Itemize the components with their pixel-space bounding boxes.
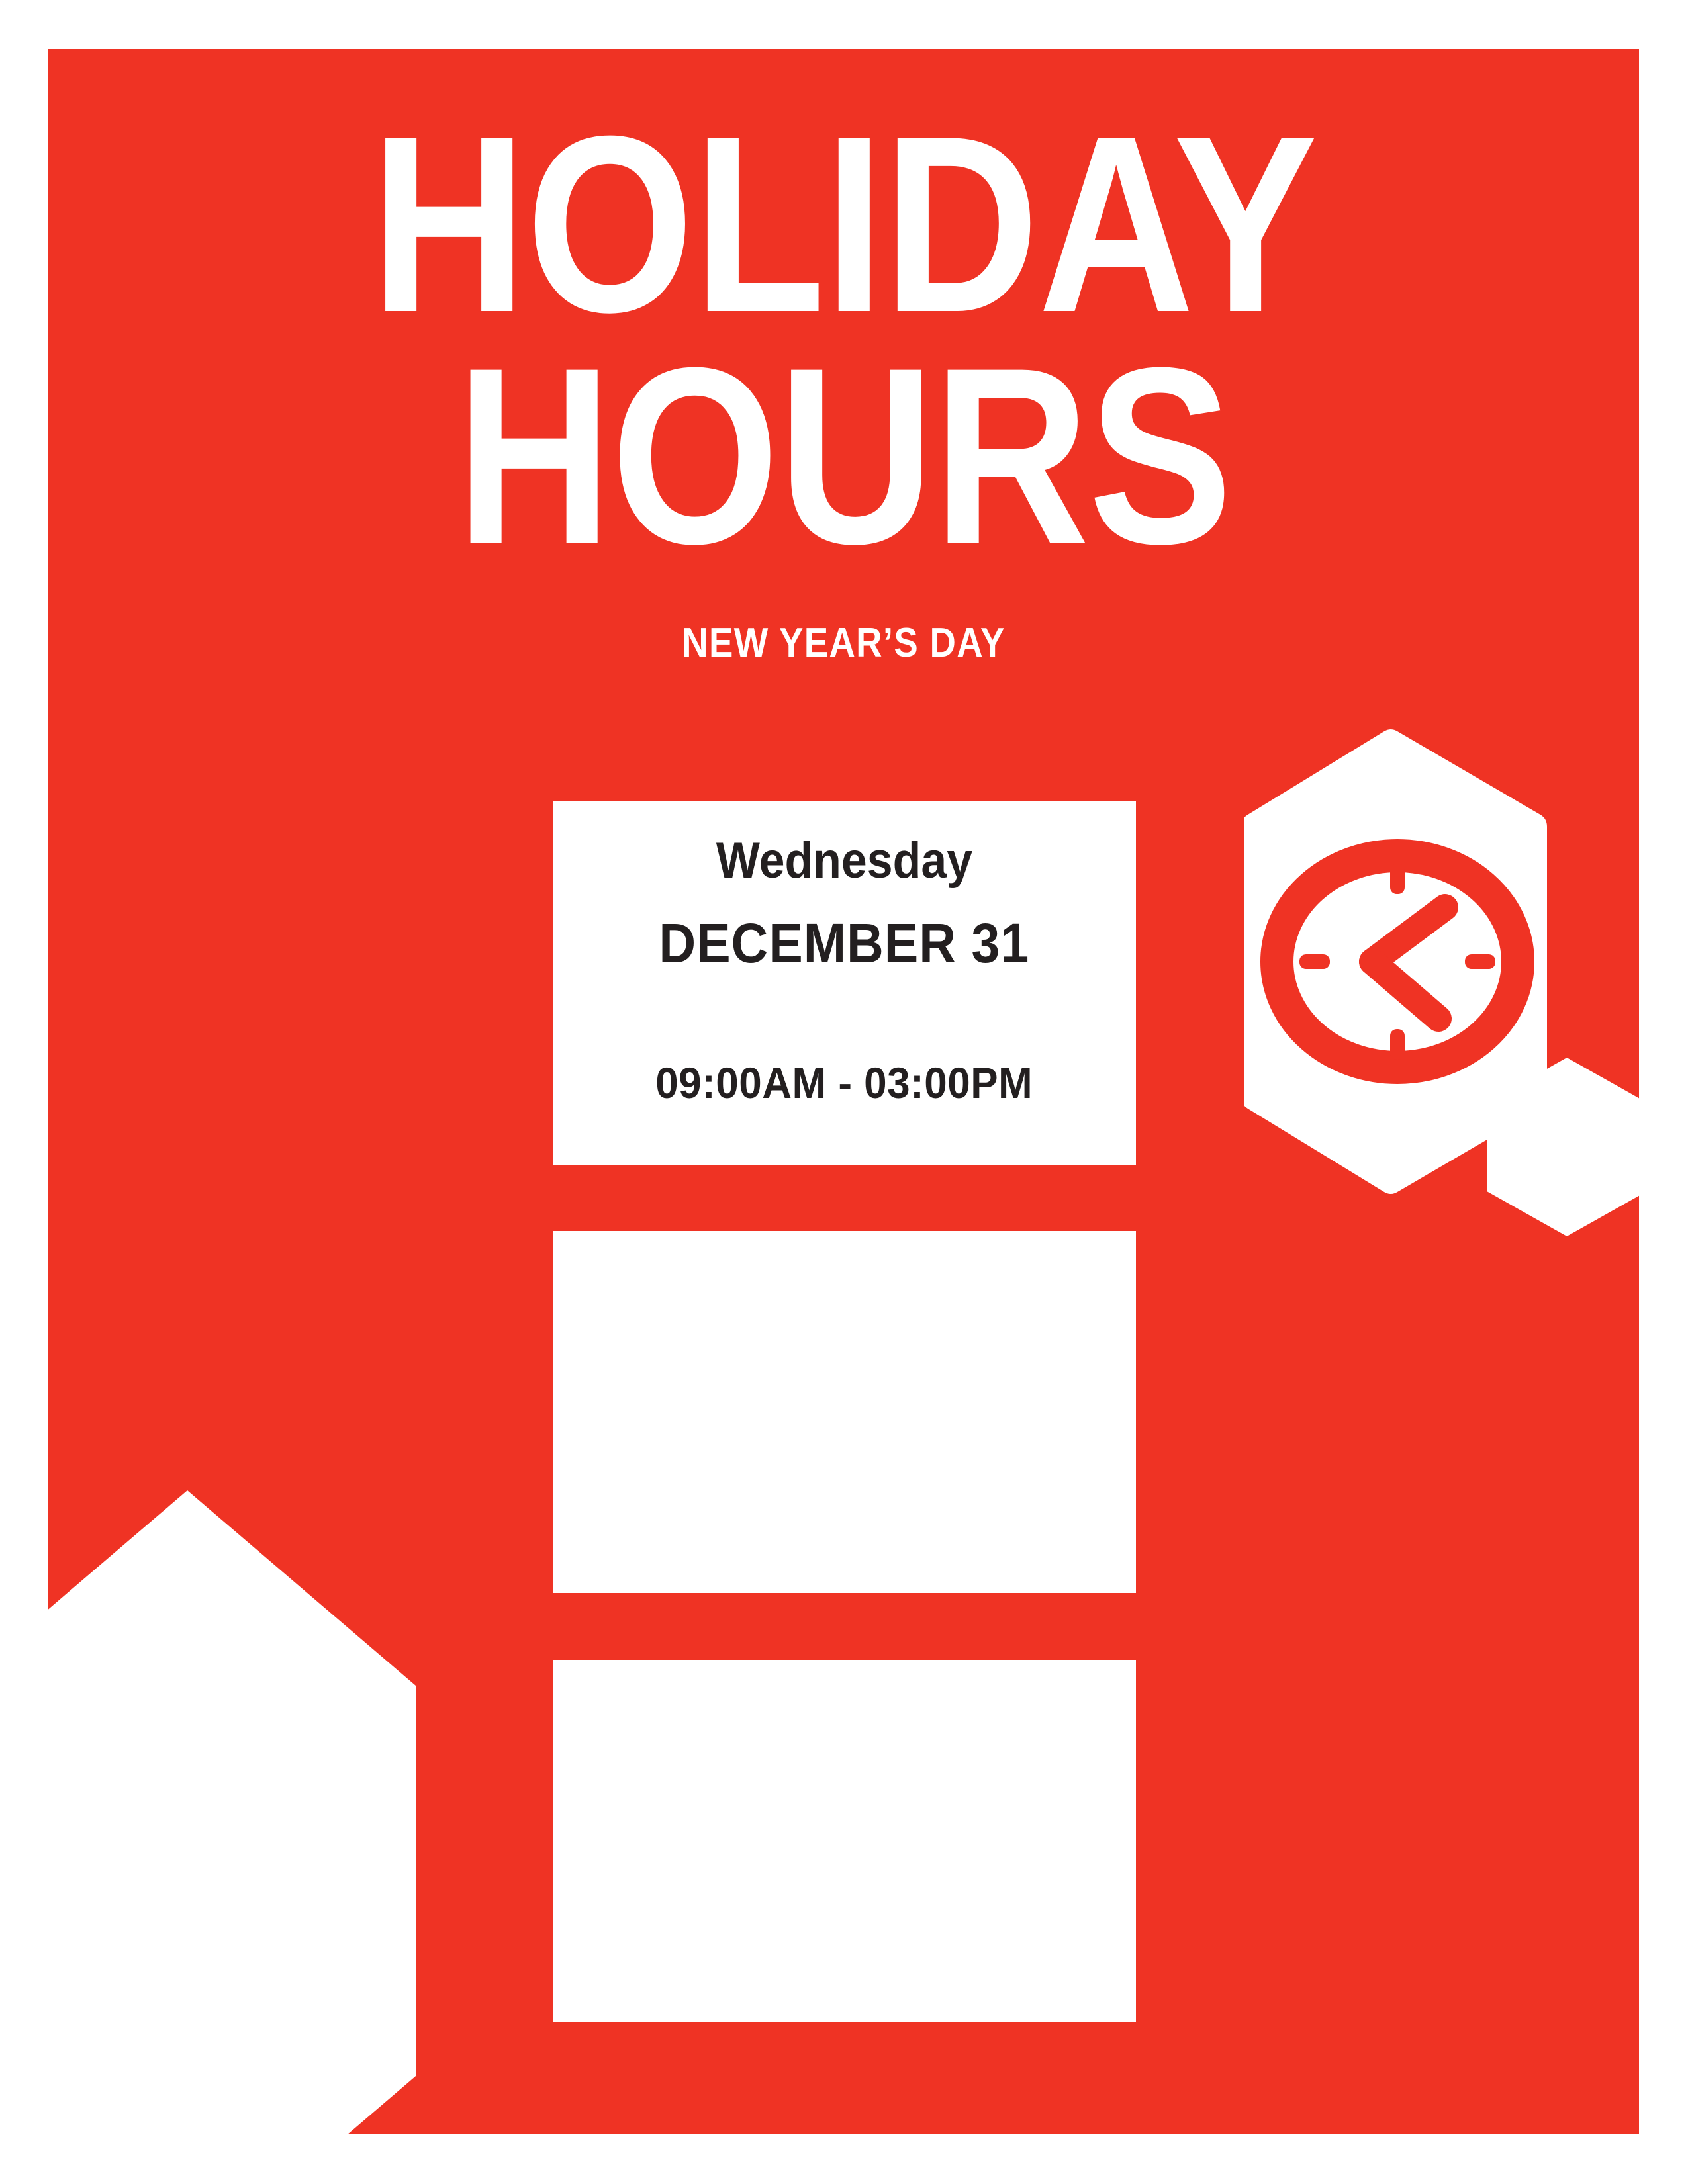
hours-card-date: DECEMBER 31 <box>659 915 1030 971</box>
clock-icon <box>1244 725 1550 1199</box>
hours-card <box>553 1660 1136 2022</box>
clock-tick-12 <box>1390 864 1405 894</box>
clock-tick-9 <box>1299 954 1330 969</box>
poster-canvas: HOLIDAY HOURS NEW YEAR’S DAY Wednesday D… <box>48 49 1639 2134</box>
title-line-2: HOURS <box>160 340 1528 572</box>
hours-card: Wednesday DECEMBER 31 09:00AM - 03:00PM <box>553 801 1136 1165</box>
hours-card-time: 09:00AM - 03:00PM <box>655 1061 1033 1105</box>
title-line-1: HOLIDAY <box>160 109 1528 340</box>
hexagon-shape-bottom-left <box>48 1490 416 2134</box>
page-subtitle: NEW YEAR’S DAY <box>144 619 1544 666</box>
hours-card-day: Wednesday <box>716 836 972 886</box>
clock-tick-6 <box>1390 1029 1405 1060</box>
hours-card <box>553 1231 1136 1593</box>
clock-tick-3 <box>1465 954 1495 969</box>
page-title: HOLIDAY HOURS <box>48 109 1639 571</box>
